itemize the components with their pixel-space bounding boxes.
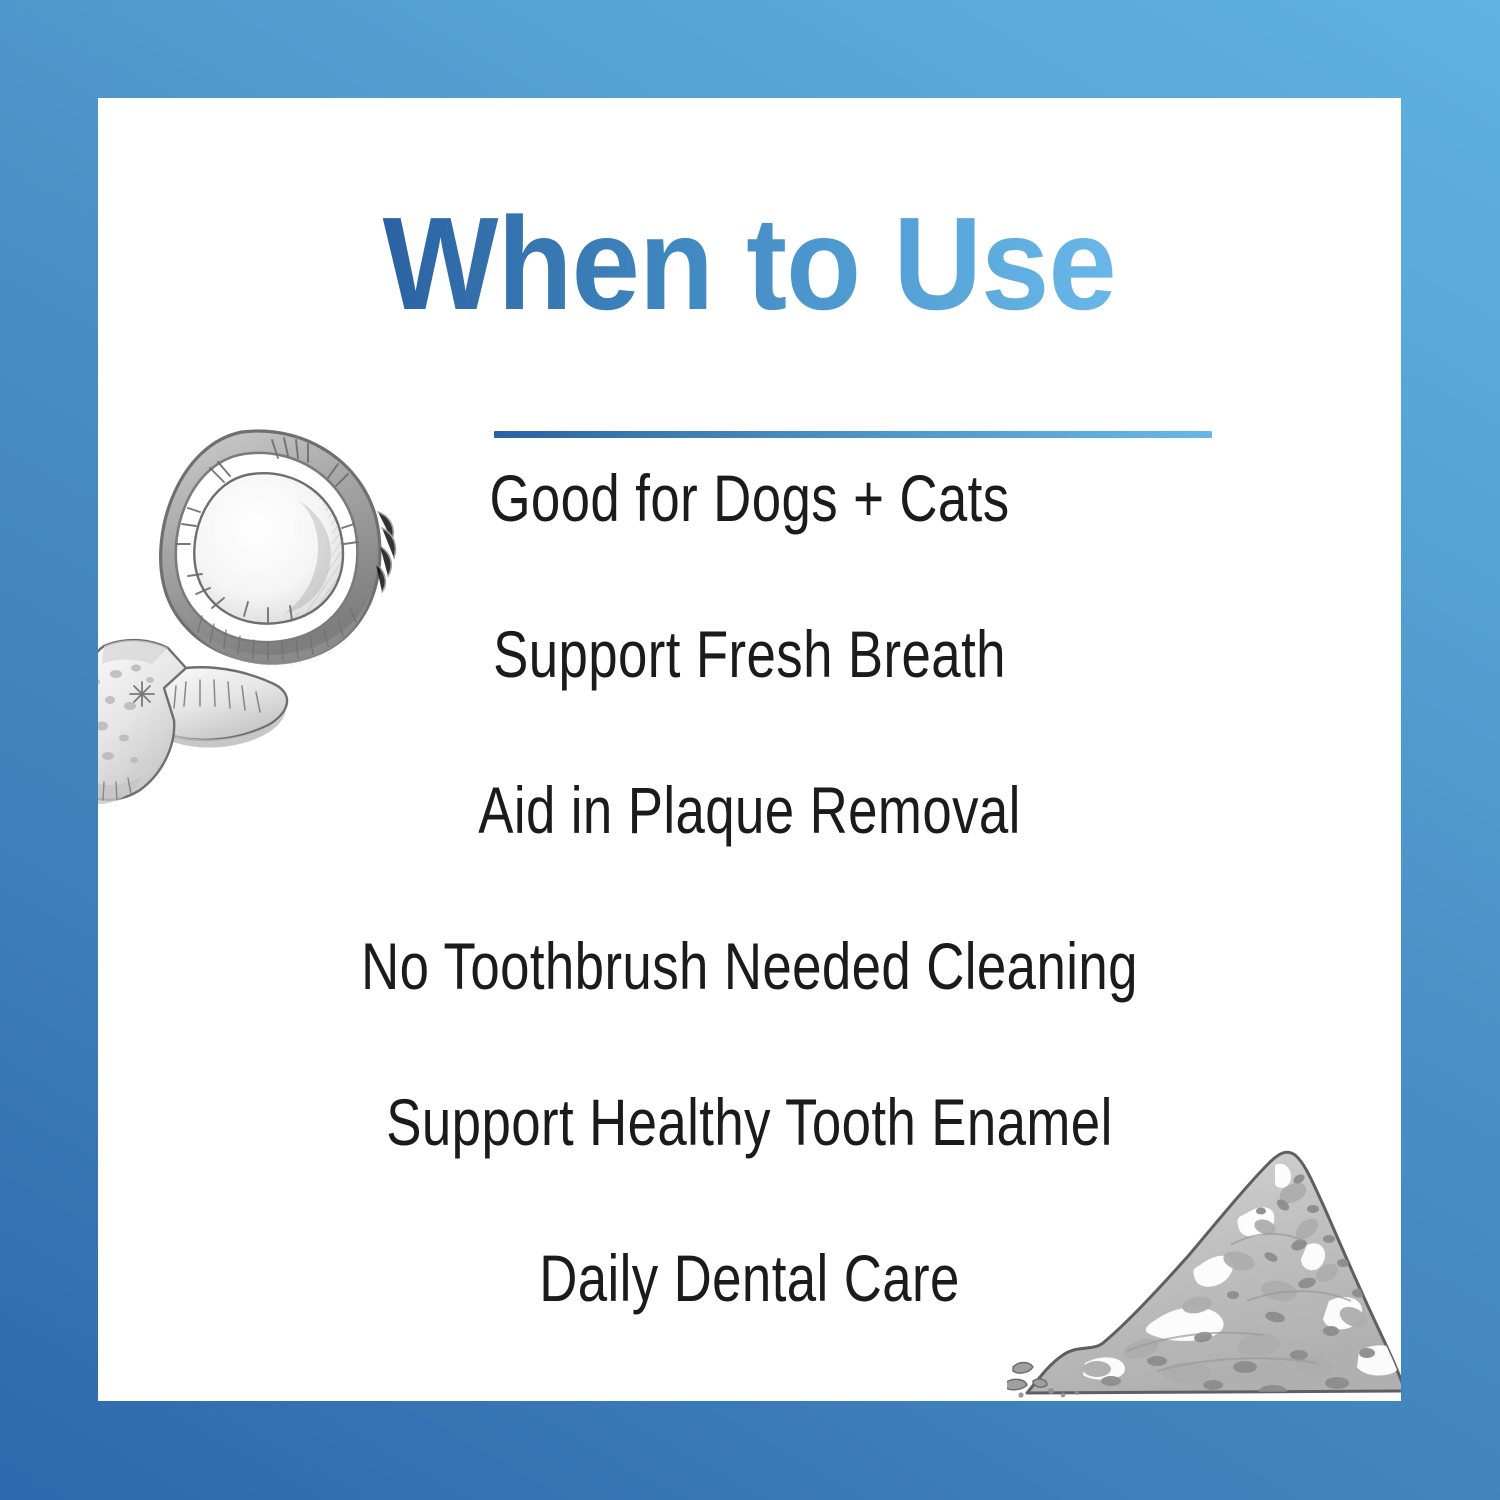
list-item: Daily Dental Care (228, 1200, 1270, 1356)
list-item: Aid in Plaque Removal (228, 732, 1270, 888)
list-item: Support Fresh Breath (228, 576, 1270, 732)
page-title: When to Use (383, 198, 1116, 330)
list-item: No Toothbrush Needed Cleaning (228, 888, 1270, 1044)
list-item: Support Healthy Tooth Enamel (228, 1044, 1270, 1200)
benefit-list: Good for Dogs + Cats Support Fresh Breat… (98, 420, 1401, 1356)
poster-canvas: When to Use Good for Dogs + Cats Support… (0, 0, 1500, 1500)
title-block: When to Use (98, 198, 1401, 330)
white-content-card: When to Use Good for Dogs + Cats Support… (98, 98, 1401, 1401)
list-item: Good for Dogs + Cats (228, 420, 1270, 576)
